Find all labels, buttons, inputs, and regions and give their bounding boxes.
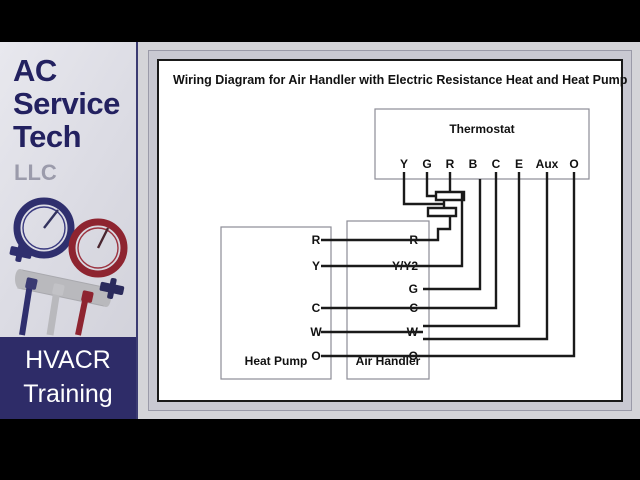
thermostat-label: Thermostat [449, 122, 514, 136]
wire-thermostat-o-to-ah-o [423, 179, 574, 356]
thermostat-terminal-aux: Aux [536, 157, 559, 171]
screenshot-stage: AC Service Tech LLC [0, 0, 640, 480]
splice-node-upper [436, 192, 464, 200]
thermostat-terminal-o: O [569, 157, 578, 171]
thermostat-terminal-c: C [492, 157, 501, 171]
brand-panel: AC Service Tech LLC [0, 42, 138, 419]
wiring-schematic: Thermostat Y G R B C E Aux O [159, 61, 625, 404]
video-canvas: AC Service Tech LLC [0, 42, 640, 419]
red-gauge-icon [72, 222, 124, 274]
letterbox-bottom [0, 419, 640, 480]
thermostat-terminal-y: Y [400, 157, 408, 171]
brand-footer: HVACR Training [0, 337, 136, 419]
footer-line2: Training [0, 377, 136, 411]
diagram-outer-panel: Wiring Diagram for Air Handler with Elec… [148, 50, 632, 411]
diagram-box: Wiring Diagram for Air Handler with Elec… [157, 59, 623, 402]
thermostat-terminal-b: B [469, 157, 478, 171]
heatpump-terminal-o: O [311, 349, 320, 363]
blue-gauge-icon [17, 201, 71, 255]
brand-title-line3: Tech [13, 120, 133, 153]
thermostat-terminal-e: E [515, 157, 523, 171]
airhandler-terminal-g: G [409, 282, 418, 296]
splice-node-lower [428, 208, 456, 216]
heatpump-terminal-c: C [312, 301, 321, 315]
manifold-gauge-icon [0, 192, 136, 337]
thermostat-terminal-r: R [446, 157, 455, 171]
brand-title-line2: Service [13, 87, 133, 120]
heat-pump-label: Heat Pump [245, 354, 308, 368]
heatpump-terminal-w: W [310, 325, 322, 339]
heatpump-terminal-y: Y [312, 259, 320, 273]
brand-title: AC Service Tech [13, 54, 133, 153]
brand-llc-text: LLC [14, 160, 57, 186]
brand-title-line1: AC [13, 54, 133, 87]
thermostat-terminal-g: G [422, 157, 431, 171]
footer-line1: HVACR [0, 337, 136, 377]
heatpump-terminal-r: R [312, 233, 321, 247]
wire-thermostat-g-stub [427, 179, 436, 196]
letterbox-top [0, 0, 640, 42]
